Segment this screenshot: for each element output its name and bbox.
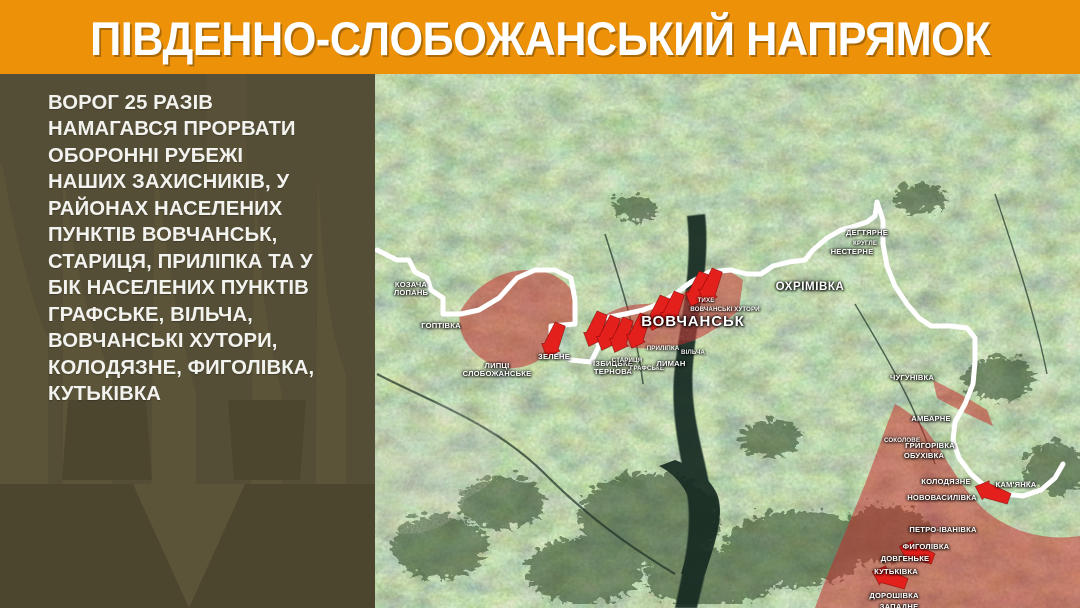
page-title: ПІВДЕННО-СЛОБОЖАНСЬКИЙ НАПРЯМОК: [90, 15, 990, 62]
map-graphics: [375, 74, 1080, 608]
infographic-root: ПІВДЕННО-СЛОБОЖАНСЬКИЙ НАПРЯМОК: [0, 0, 1080, 608]
map-area[interactable]: КОЗАЧАЛОПАНЬГОПТІВКАЛИПЦІСЛОБОЖАНСЬКЕЗЕЛ…: [375, 74, 1080, 608]
header-banner: ПІВДЕННО-СЛОБОЖАНСЬКИЙ НАПРЯМОК: [0, 0, 1080, 74]
panel-body-text: ВОРОГ 25 РАЗІВ НАМАГАВСЯ ПРОРВАТИ ОБОРОН…: [0, 74, 375, 408]
left-text-panel: ВОРОГ 25 РАЗІВ НАМАГАВСЯ ПРОРВАТИ ОБОРОН…: [0, 74, 375, 608]
